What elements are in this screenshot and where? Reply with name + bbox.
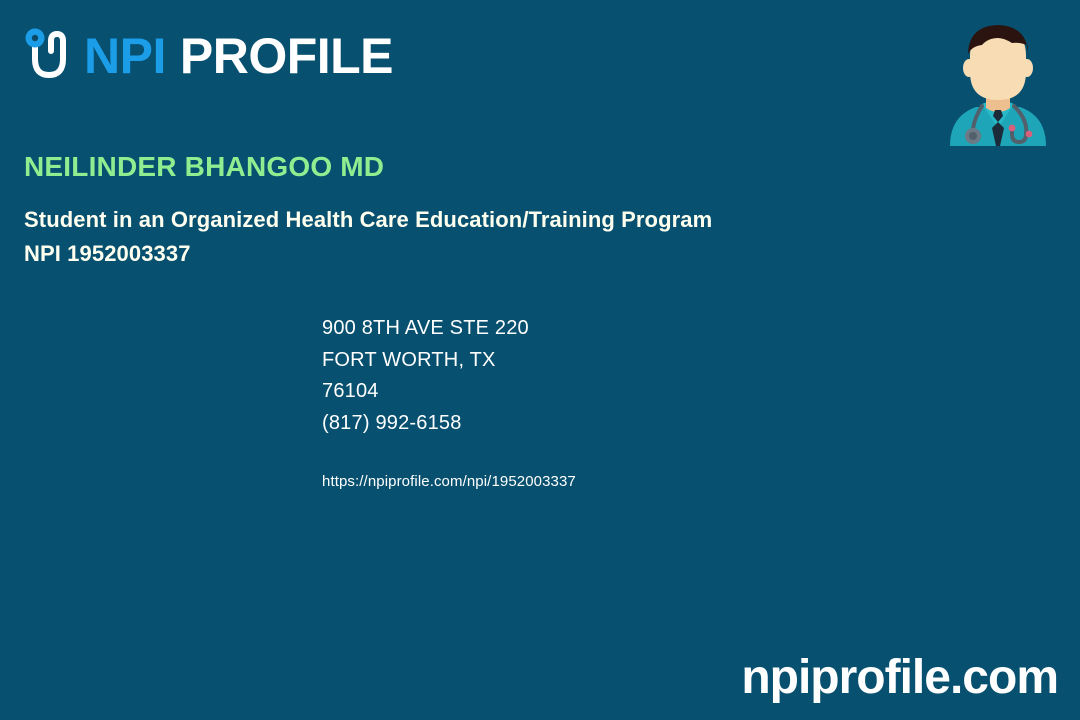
- brand-wordmark: NPI PROFILE: [84, 31, 393, 81]
- practice-address: 900 8TH AVE STE 220 FORT WORTH, TX 76104…: [322, 313, 529, 439]
- provider-name: NEILINDER BHANGOO MD: [24, 150, 384, 184]
- doctor-avatar-icon: [942, 16, 1054, 146]
- address-phone: (817) 992-6158: [322, 408, 529, 440]
- stethoscope-icon: [22, 25, 76, 87]
- profile-url-link[interactable]: https://npiprofile.com/npi/1952003337: [322, 473, 576, 490]
- provider-details: Student in an Organized Health Care Educ…: [24, 203, 712, 271]
- address-street: 900 8TH AVE STE 220: [322, 313, 529, 345]
- footer-domain: npiprofile.com: [741, 654, 1058, 702]
- address-city-state: FORT WORTH, TX: [322, 345, 529, 377]
- brand-profile-text: PROFILE: [180, 31, 393, 81]
- provider-npi-number: NPI 1952003337: [24, 237, 712, 271]
- provider-taxonomy: Student in an Organized Health Care Educ…: [24, 203, 712, 237]
- brand-logo: NPI PROFILE: [22, 24, 393, 88]
- npi-profile-card: NPI PROFILE: [0, 0, 1080, 720]
- brand-npi-text: NPI: [84, 31, 166, 81]
- address-zip: 76104: [322, 376, 529, 408]
